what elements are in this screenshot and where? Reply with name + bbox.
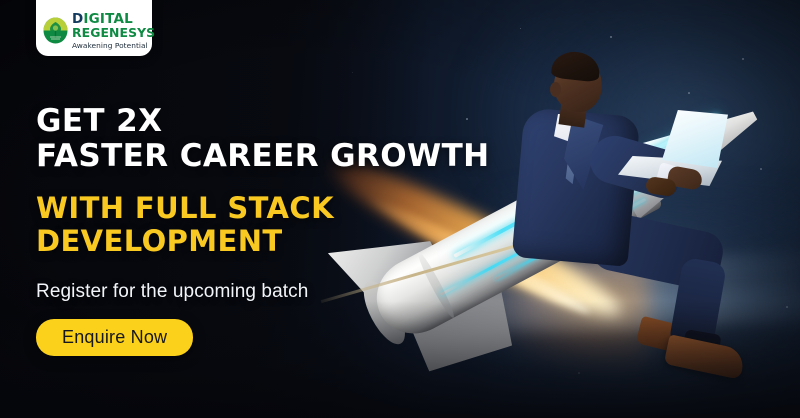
copy-block: GET 2X FASTER CAREER GROWTH WITH FULL ST… — [36, 104, 490, 356]
subheading: Register for the upcoming batch — [36, 281, 490, 303]
brand-logo-card[interactable]: DIGITAL REGENESYS Awakening Potential — [36, 0, 152, 56]
brand-tagline: Awakening Potential — [72, 42, 155, 49]
enquire-now-button[interactable]: Enquire Now — [36, 319, 193, 356]
brand-line-regenesys: REGENESYS — [72, 27, 155, 39]
headline-white: GET 2X FASTER CAREER GROWTH — [36, 104, 490, 173]
headline-line-3: WITH FULL STACK — [36, 192, 490, 225]
headline-line-4: DEVELOPMENT — [36, 225, 490, 258]
brand-line-digital: DIGITAL — [72, 13, 155, 27]
headline-line-1: GET 2X — [36, 104, 490, 139]
headline-line-2: FASTER CAREER GROWTH — [36, 139, 490, 174]
brand-wordmark: DIGITAL REGENESYS Awakening Potential — [72, 13, 155, 49]
tree-circle-emblem — [43, 17, 68, 44]
promo-banner: DIGITAL REGENESYS Awakening Potential GE… — [0, 0, 800, 418]
headline-yellow: WITH FULL STACK DEVELOPMENT — [36, 192, 490, 258]
